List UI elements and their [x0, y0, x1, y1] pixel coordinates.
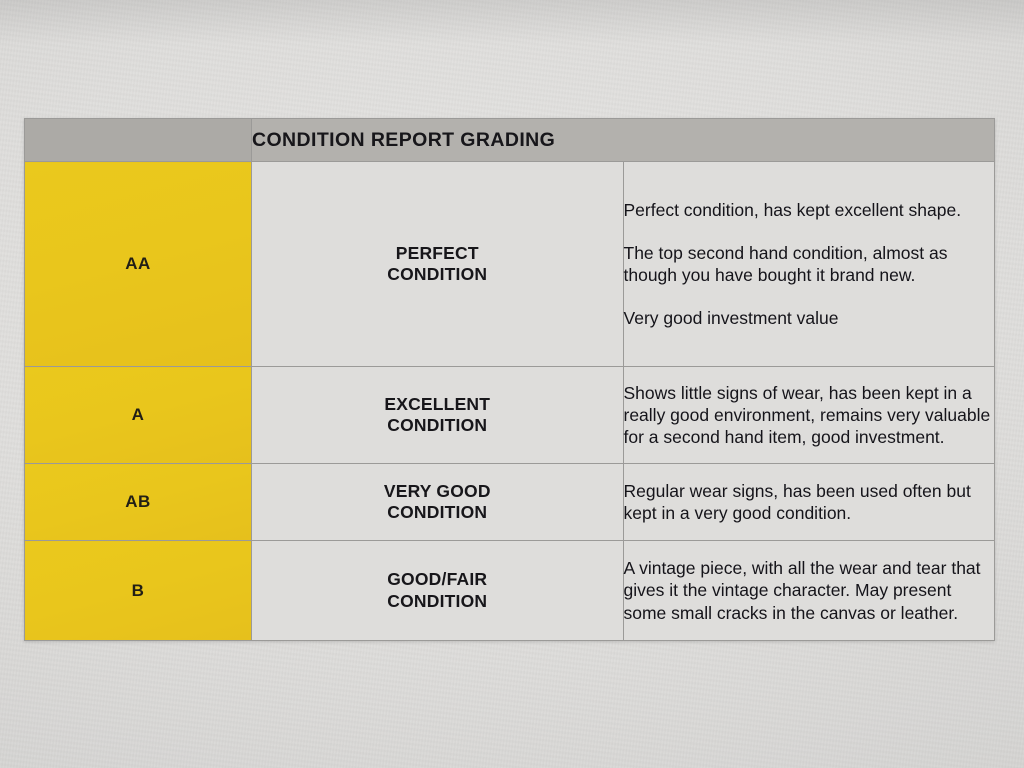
condition-label-line1: EXCELLENT — [252, 394, 623, 415]
description-paragraph: Regular wear signs, has been used often … — [624, 480, 995, 524]
description-cell-b: A vintage piece, with all the wear and t… — [623, 541, 995, 641]
condition-label-line1: PERFECT — [252, 243, 623, 264]
table-header-row: CONDITION REPORT GRADING — [25, 119, 995, 162]
table-header: CONDITION REPORT GRADING — [25, 119, 995, 162]
condition-label-line2: CONDITION — [252, 591, 623, 612]
description-paragraph: A vintage piece, with all the wear and t… — [624, 557, 995, 624]
description-paragraph: Very good investment value — [624, 307, 995, 329]
grade-cell-ab: AB — [25, 464, 252, 541]
description-paragraph: Shows little signs of wear, has been kep… — [624, 382, 995, 449]
description-cell-ab: Regular wear signs, has been used often … — [623, 464, 995, 541]
condition-label-line1: VERY GOOD — [252, 481, 623, 502]
description-cell-a: Shows little signs of wear, has been kep… — [623, 367, 995, 464]
grade-label: AA — [125, 254, 151, 273]
header-title-cell: CONDITION REPORT GRADING — [252, 119, 995, 162]
page-title: CONDITION REPORT GRADING — [252, 129, 555, 151]
grade-label: A — [132, 405, 145, 424]
condition-label-line1: GOOD/FAIR — [252, 569, 623, 590]
description-paragraph: The top second hand condition, almost as… — [624, 242, 995, 286]
grade-cell-b: B — [25, 541, 252, 641]
header-spacer-cell — [25, 119, 252, 162]
condition-label-line2: CONDITION — [252, 415, 623, 436]
table-row: AA PERFECT CONDITION Perfect condition, … — [25, 162, 995, 367]
grade-label: AB — [125, 492, 151, 511]
table-row: A EXCELLENT CONDITION Shows little signs… — [25, 367, 995, 464]
condition-report-grading-table: CONDITION REPORT GRADING AA PERFECT COND… — [24, 118, 995, 641]
condition-cell-a: EXCELLENT CONDITION — [252, 367, 624, 464]
condition-label-line2: CONDITION — [252, 264, 623, 285]
description-paragraph: Perfect condition, has kept excellent sh… — [624, 199, 995, 221]
condition-label-line2: CONDITION — [252, 502, 623, 523]
grade-cell-aa: AA — [25, 162, 252, 367]
description-cell-aa: Perfect condition, has kept excellent sh… — [623, 162, 995, 367]
table-row: B GOOD/FAIR CONDITION A vintage piece, w… — [25, 541, 995, 641]
table-row: AB VERY GOOD CONDITION Regular wear sign… — [25, 464, 995, 541]
grade-cell-a: A — [25, 367, 252, 464]
condition-cell-aa: PERFECT CONDITION — [252, 162, 624, 367]
table-body: AA PERFECT CONDITION Perfect condition, … — [25, 162, 995, 641]
grade-label: B — [132, 581, 145, 600]
condition-cell-ab: VERY GOOD CONDITION — [252, 464, 624, 541]
condition-cell-b: GOOD/FAIR CONDITION — [252, 541, 624, 641]
